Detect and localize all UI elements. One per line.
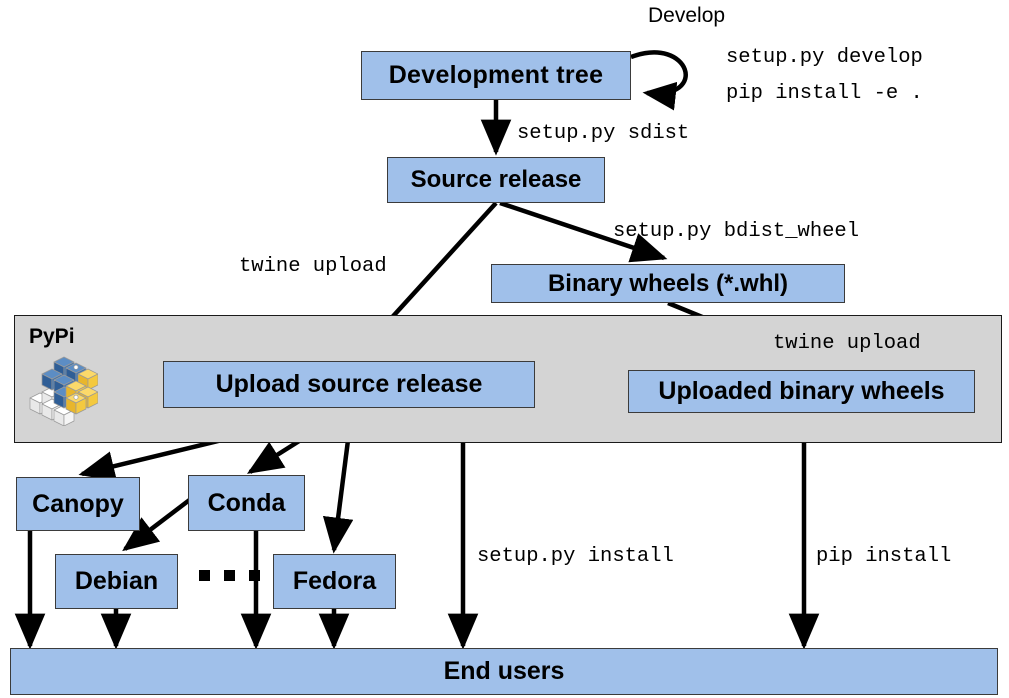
pypi-group-label: PyPi [29, 325, 75, 349]
node-canopy[interactable]: Canopy [16, 477, 140, 531]
node-end-users[interactable]: End users [10, 648, 998, 695]
edge-label-setup-py-sdist: setup.py sdist [517, 122, 689, 145]
node-conda[interactable]: Conda [188, 475, 305, 531]
node-binary-wheels[interactable]: Binary wheels (*.whl) [491, 264, 845, 303]
pypi-python-cubes-logo [26, 354, 98, 426]
edge-label-pip-install-editable: pip install -e . [726, 82, 923, 105]
edge-label-setup-py-install: setup.py install [477, 545, 674, 568]
other-distros-ellipsis-icon [199, 570, 260, 581]
edge-label-setup-py-bdist-wheel: setup.py bdist_wheel [613, 220, 859, 243]
edge-label-twine-upload-source: twine upload [239, 255, 387, 278]
diagram-canvas: PyPi [0, 0, 1009, 698]
edge-label-twine-upload-wheels: twine upload [773, 332, 921, 355]
node-fedora[interactable]: Fedora [273, 554, 396, 609]
node-source-release[interactable]: Source release [387, 157, 605, 203]
node-debian[interactable]: Debian [55, 554, 178, 609]
node-uploaded-binary-wheels[interactable]: Uploaded binary wheels [628, 370, 975, 413]
edge-label-pip-install: pip install [816, 545, 951, 568]
edge-label-develop: Develop [648, 4, 725, 28]
edge-label-setup-py-develop: setup.py develop [726, 46, 923, 69]
node-development-tree[interactable]: Development tree [361, 51, 631, 100]
node-upload-source-release[interactable]: Upload source release [163, 361, 535, 408]
edge-develop-self-loop [631, 52, 686, 93]
